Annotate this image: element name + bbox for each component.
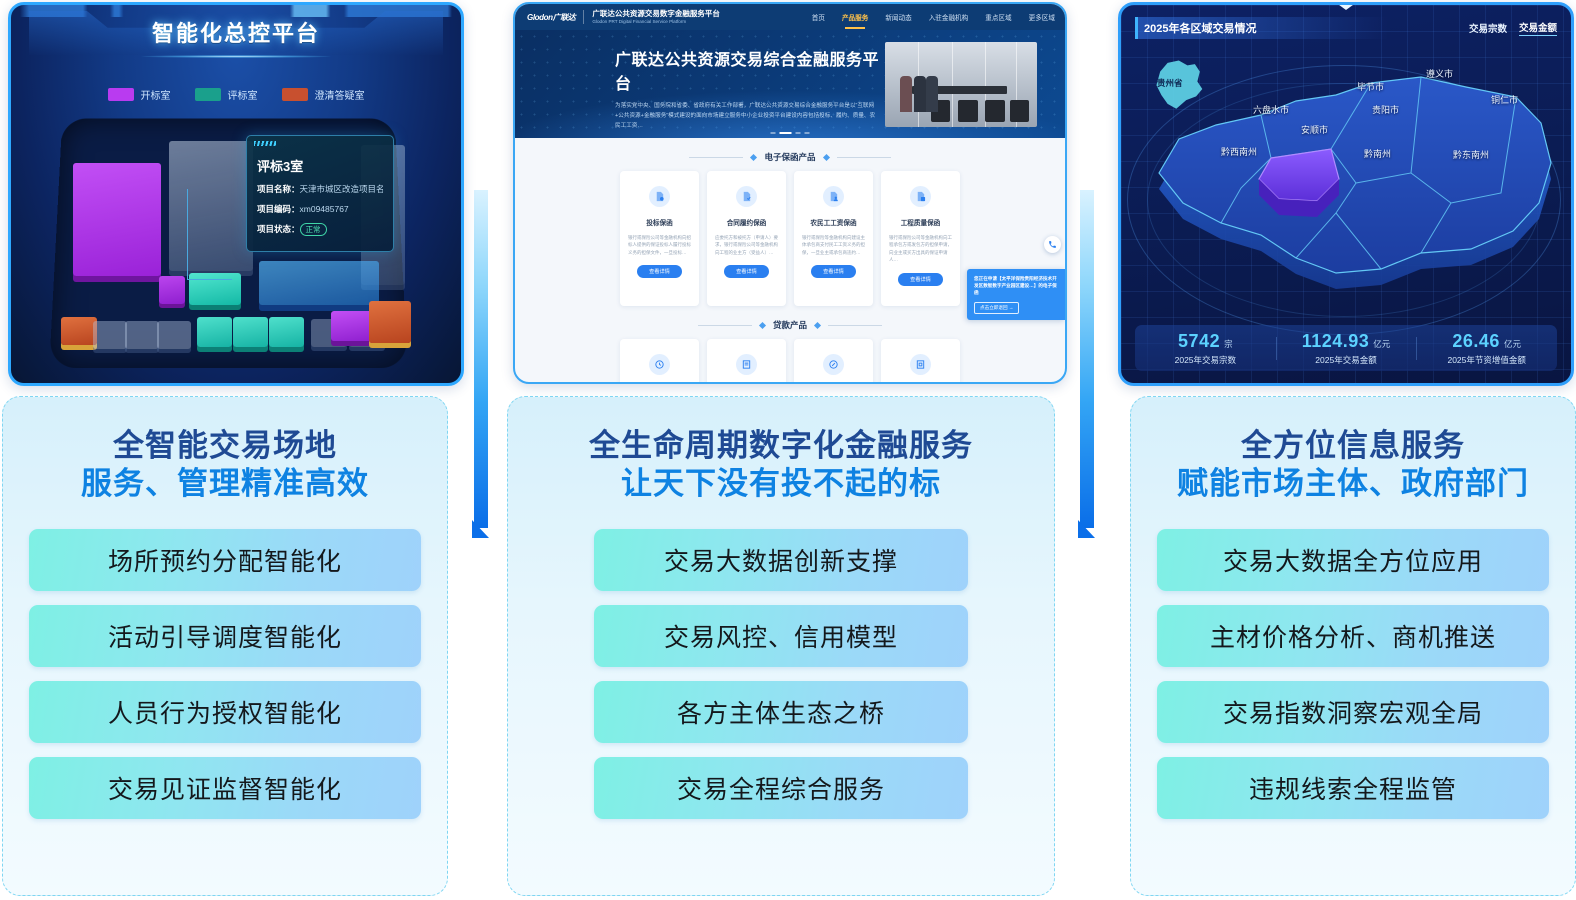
promo-text: 您正在申请【太平洋保险贵阳经济技术开发区数智数字产业园区建设…】的电子保函 <box>974 275 1058 296</box>
diamond-icon <box>759 321 766 328</box>
arrow-head <box>472 520 489 538</box>
legend-swatch-bid-evaluation <box>195 88 221 101</box>
feature-list: 场所预约分配智能化 活动引导调度智能化 人员行为授权智能化 交易见证监督智能化 <box>29 529 421 819</box>
region-label-qiandongnan: 黔东南州 <box>1453 148 1489 161</box>
feature-title: 全智能交易场地 服务、管理精准高效 <box>29 427 421 503</box>
feature-title: 全生命周期数字化金融服务 让天下没有投不起的标 <box>534 427 1028 503</box>
stat-value: 26.46 <box>1452 331 1500 351</box>
product-detail-button[interactable]: 查看详情 <box>898 273 943 286</box>
control-platform-screenshot: 智能化总控平台 开标室 评标室 澄清答疑室 <box>8 2 464 386</box>
room-purple-small[interactable] <box>159 276 185 304</box>
product-card[interactable] <box>881 339 960 384</box>
diamond-icon <box>814 321 821 328</box>
feature-title-line2: 赋能市场主体、政府部门 <box>1157 465 1549 503</box>
site-brand-en: Glodon PRT Digital Financial Service Pla… <box>592 19 720 24</box>
tooltip-leader-line <box>187 189 232 280</box>
feature-title-line2: 服务、管理精准高效 <box>29 465 421 503</box>
phone-icon[interactable] <box>1044 236 1061 253</box>
divider-line <box>837 157 891 158</box>
feature-title-line1: 全方位信息服务 <box>1157 427 1549 465</box>
metric-toggle: 交易宗数 交易金额 <box>1469 20 1557 36</box>
list-item[interactable]: 交易大数据创新支撑 <box>594 529 968 591</box>
section-title: 贷款产品 <box>773 319 807 331</box>
glodon-logo: Glodon广联达 <box>515 12 575 23</box>
hero-meeting-photo <box>885 42 1037 127</box>
site-nav: 首页 产品服务 新闻动态 入驻金融机构 重点区域 更多区域 <box>812 12 1065 22</box>
feature-card-financial-service: 全生命周期数字化金融服务 让天下没有投不起的标 交易大数据创新支撑 交易风控、信… <box>507 396 1055 896</box>
room-purple-b[interactable] <box>331 311 373 341</box>
connector-arrow-1 <box>466 190 500 565</box>
feature-list: 交易大数据创新支撑 交易风控、信用模型 各方主体生态之桥 交易全程综合服务 <box>534 529 1028 819</box>
room-eval-b2[interactable] <box>233 317 268 347</box>
room-grey-b1[interactable] <box>93 321 127 349</box>
product-detail-button[interactable]: 查看详情 <box>637 265 682 278</box>
tooltip-value: xm09485767 <box>300 204 349 214</box>
region-label-qiannan: 黔南州 <box>1364 147 1391 160</box>
product-card[interactable]: 合同履约保函 应委托方和被托方（申请人）要求，银行或保险公司等金融机构向工程的业… <box>707 171 786 306</box>
legend-item[interactable]: 澄清答疑室 <box>282 87 365 102</box>
shield-check-icon <box>736 186 757 207</box>
room-bid-opening-hall[interactable] <box>73 163 161 276</box>
region-label-guiyang: 贵阳市 <box>1372 103 1399 116</box>
floor-plan-3d[interactable]: 评标3室 项目名称：天津市城区改造项目名称最… 项目编码：xm09485767 … <box>11 103 461 383</box>
product-card[interactable]: 投标保函 银行或保险公司等金融机构向招标人提供的保证投标人履行投标义务的担保文件… <box>620 171 699 306</box>
toggle-transaction-count[interactable]: 交易宗数 <box>1469 21 1507 35</box>
site-brand-cn: 广联达公共资源交易数字金融服务平台 <box>592 10 720 19</box>
loan-bill-icon <box>736 354 757 375</box>
product-card[interactable]: 农民工工资保函 银行或保险等金融机构向建设主体承包商支付民工工资义务的担保，一旦… <box>794 171 873 306</box>
loan-doc-icon <box>910 354 931 375</box>
feature-card-smart-venue: 全智能交易场地 服务、管理精准高效 场所预约分配智能化 活动引导调度智能化 人员… <box>2 396 448 896</box>
shield-doc-icon <box>649 186 670 207</box>
column-smart-venue: 智能化总控平台 开标室 评标室 澄清答疑室 <box>0 0 466 900</box>
stat-caption: 2025年交易宗数 <box>1135 354 1276 366</box>
person <box>926 76 938 112</box>
tooltip-row-project-name: 项目名称：天津市城区改造项目名称最… <box>257 183 383 195</box>
dashboard-title: 2025年各区域交易情况 <box>1144 20 1256 36</box>
legend-item[interactable]: 开标室 <box>108 87 171 102</box>
tooltip-row-project-status: 项目状态：正常 <box>257 223 383 236</box>
tooltip-corner-decoration <box>254 141 276 146</box>
region-label-tongren: 铜仁市 <box>1491 93 1518 106</box>
product-card[interactable]: 工程质量保函 银行或保险公司等金融机构向工程承包方或发包方的担保申请，向业主或买… <box>881 171 960 306</box>
product-name: 工程质量保函 <box>889 217 952 227</box>
section-title: 电子保函产品 <box>764 151 815 163</box>
tooltip-row-project-code: 项目编码：xm09485767 <box>257 203 383 215</box>
loan-product-cards <box>515 339 1065 384</box>
product-detail-button[interactable]: 查看详情 <box>811 265 856 278</box>
window-line <box>952 42 953 127</box>
divider-line <box>828 325 882 326</box>
platform-title: 智能化总控平台 <box>152 16 320 48</box>
tooltip-key: 项目状态： <box>257 224 300 234</box>
header-accent-bar <box>1135 17 1138 39</box>
room-grey-b3[interactable] <box>157 321 191 349</box>
feature-title-line1: 全生命周期数字化金融服务 <box>534 427 1028 465</box>
stat-unit: 宗 <box>1224 339 1233 349</box>
promo-toast: 您正在申请【太平洋保险贵阳经济技术开发区数智数字产业园区建设…】的电子保函 点击… <box>967 269 1065 320</box>
product-card[interactable] <box>794 339 873 384</box>
chair <box>985 100 1005 122</box>
region-label-liupanshui: 六盘水市 <box>1253 103 1289 116</box>
list-item[interactable]: 交易风控、信用模型 <box>594 605 968 667</box>
diamond-icon <box>822 153 829 160</box>
nav-item-home[interactable]: 首页 <box>812 12 825 22</box>
status-badge: 正常 <box>300 223 327 236</box>
stat-caption: 2025年交易金额 <box>1276 354 1417 366</box>
product-desc: 银行或保险公司等金融机构向招标人提供的保证投标人履行投标义务的担保文件，一旦投标… <box>628 234 691 256</box>
section-header-guarantee: 电子保函产品 <box>515 151 1065 163</box>
stat-caption: 2025年节资增值金额 <box>1416 354 1557 366</box>
site-header: Glodon广联达 广联达公共资源交易数字金融服务平台 Glodon PRT D… <box>515 4 1065 30</box>
toggle-transaction-amount[interactable]: 交易金额 <box>1519 20 1557 36</box>
regional-trading-dashboard: 2025年各区域交易情况 交易宗数 交易金额 贵州省 <box>1118 2 1574 386</box>
stat-transaction-count: 5742宗 2025年交易宗数 <box>1135 331 1276 366</box>
room-legend: 开标室 评标室 澄清答疑室 <box>11 87 461 102</box>
poster-canvas: 智能化总控平台 开标室 评标室 澄清答疑室 <box>0 0 1576 900</box>
region-label-qianxinan: 黔西南州 <box>1221 145 1257 158</box>
product-card[interactable] <box>620 339 699 384</box>
product-name: 投标保函 <box>628 217 691 227</box>
region-label-bijie: 毕节市 <box>1357 80 1384 93</box>
legend-item[interactable]: 评标室 <box>195 87 258 102</box>
loan-percent-icon <box>823 354 844 375</box>
nav-item-news[interactable]: 新闻动态 <box>885 12 911 22</box>
room-blue-hall[interactable] <box>259 261 379 305</box>
nav-item-products[interactable]: 产品服务 <box>842 12 868 22</box>
nav-item-regions[interactable]: 重点区域 <box>985 12 1011 22</box>
site-brand: 广联达公共资源交易数字金融服务平台 Glodon PRT Digital Fin… <box>583 10 720 24</box>
product-desc: 应委托方和被托方（申请人）要求，银行或保险公司等金融机构向工程的业主方（受益人）… <box>715 234 778 256</box>
room-grey-b2[interactable] <box>125 321 159 349</box>
feature-title-line1: 全智能交易场地 <box>29 427 421 465</box>
room-eval-b1[interactable] <box>197 317 232 347</box>
list-item[interactable]: 交易大数据全方位应用 <box>1157 529 1549 591</box>
title-glow-decoration <box>141 55 331 58</box>
legend-label: 开标室 <box>141 87 171 102</box>
room-clarification-1[interactable] <box>61 317 97 345</box>
stat-unit: 亿元 <box>1373 339 1390 349</box>
product-name: 农民工工资保函 <box>802 217 865 227</box>
tooltip-key: 项目名称： <box>257 184 300 194</box>
list-item[interactable]: 人员行为授权智能化 <box>29 681 421 743</box>
loan-cycle-icon <box>649 354 670 375</box>
list-item[interactable]: 交易全程综合服务 <box>594 757 968 819</box>
hero-carousel-dots[interactable] <box>771 132 810 134</box>
section-header-loan: 贷款产品 <box>515 319 1065 331</box>
list-item[interactable]: 各方主体生态之桥 <box>594 681 968 743</box>
tooltip-value: 天津市城区改造项目名称最… <box>300 184 383 194</box>
platform-title-wrap: 智能化总控平台 <box>11 9 461 59</box>
region-label-anshun: 安顺市 <box>1301 123 1328 136</box>
arrow-head <box>1078 520 1095 538</box>
hero-banner: 广联达公共资源交易综合金融服务平台 为落实党中央、国务院和省委、省政府有关工作部… <box>515 30 1065 138</box>
tooltip-key: 项目编码： <box>257 204 300 214</box>
product-desc: 银行或保险公司等金融机构向工程承包方或发包方的担保申请，向业主或买方出具的保证申… <box>889 234 952 264</box>
product-detail-button[interactable]: 查看详情 <box>724 265 769 278</box>
legend-label: 评标室 <box>228 87 258 102</box>
column-financial-service: Glodon广联达 广联达公共资源交易数字金融服务平台 Glodon PRT D… <box>505 0 1071 900</box>
hero-description: 为落实党中央、国务院和省委、省政府有关工作部署，广联达公共资源交易综合金融服务平… <box>615 102 880 131</box>
stat-transaction-amount: 1124.93亿元 2025年交易金额 <box>1276 331 1417 366</box>
arrow-shaft <box>474 190 488 528</box>
promo-button[interactable]: 点击立即退回 → <box>974 302 1019 314</box>
carousel-dot[interactable] <box>771 132 776 134</box>
product-name: 合同履约保函 <box>715 217 778 227</box>
carousel-dot-active[interactable] <box>780 132 792 134</box>
connector-arrow-2 <box>1072 190 1106 565</box>
chair <box>958 100 978 122</box>
chair <box>1010 100 1030 122</box>
stat-value: 1124.93 <box>1302 331 1370 351</box>
feature-title-line2: 让天下没有投不起的标 <box>534 465 1028 503</box>
stat-unit: 亿元 <box>1504 339 1521 349</box>
legend-swatch-clarification <box>282 88 308 101</box>
room-tooltip: 评标3室 项目名称：天津市城区改造项目名称最… 项目编码：xm09485767 … <box>246 135 394 252</box>
legend-swatch-bid-opening <box>108 88 134 101</box>
nav-more-regions[interactable]: 更多区域 <box>1029 12 1055 22</box>
diamond-icon <box>750 153 757 160</box>
shield-file-icon <box>910 186 931 207</box>
product-card[interactable] <box>707 339 786 384</box>
carousel-dot[interactable] <box>805 132 810 134</box>
stat-value: 5742 <box>1178 331 1220 351</box>
tooltip-title: 评标3室 <box>257 156 383 175</box>
feature-list: 交易大数据全方位应用 主材价格分析、商机推送 交易指数洞察宏观全局 违规线索全程… <box>1157 529 1549 819</box>
shield-user-icon <box>823 186 844 207</box>
list-item[interactable]: 活动引导调度智能化 <box>29 605 421 667</box>
divider-line <box>689 157 743 158</box>
list-item[interactable]: 场所预约分配智能化 <box>29 529 421 591</box>
feature-title: 全方位信息服务 赋能市场主体、政府部门 <box>1157 427 1549 503</box>
person <box>914 76 926 112</box>
region-label-zunyi: 遵义市 <box>1426 67 1453 80</box>
room-eval-b3[interactable] <box>269 317 304 347</box>
list-item[interactable]: 交易指数洞察宏观全局 <box>1157 681 1549 743</box>
feature-card-information-service: 全方位信息服务 赋能市场主体、政府部门 交易大数据全方位应用 主材价格分析、商机… <box>1130 396 1576 896</box>
product-desc: 银行或保险等金融机构向建设主体承包商支付民工工资义务的担保，一旦业主或承包商违约… <box>802 234 865 256</box>
hero-title: 广联达公共资源交易综合金融服务平台 <box>615 46 880 94</box>
dashboard-header: 2025年各区域交易情况 交易宗数 交易金额 <box>1135 17 1557 39</box>
divider-line <box>698 325 752 326</box>
list-item[interactable]: 交易见证监督智能化 <box>29 757 421 819</box>
column-information-service: 2025年各区域交易情况 交易宗数 交易金额 贵州省 <box>1110 0 1576 900</box>
finance-website-screenshot: Glodon广联达 广联达公共资源交易数字金融服务平台 Glodon PRT D… <box>513 2 1067 384</box>
carousel-dot[interactable] <box>796 132 801 134</box>
dashboard-stats: 5742宗 2025年交易宗数 1124.93亿元 2025年交易金额 26.4… <box>1135 325 1557 371</box>
list-item[interactable]: 违规线索全程监管 <box>1157 757 1549 819</box>
arrow-shaft <box>1080 190 1094 528</box>
nav-item-institutions[interactable]: 入驻金融机构 <box>929 12 969 22</box>
person <box>900 76 912 112</box>
room-clarification-2[interactable] <box>369 301 411 343</box>
hero-text-block: 广联达公共资源交易综合金融服务平台 为落实党中央、国务院和省委、省政府有关工作部… <box>615 46 880 138</box>
list-item[interactable]: 主材价格分析、商机推送 <box>1157 605 1549 667</box>
stat-savings-amount: 26.46亿元 2025年节资增值金额 <box>1416 331 1557 366</box>
legend-label: 澄清答疑室 <box>315 87 365 102</box>
